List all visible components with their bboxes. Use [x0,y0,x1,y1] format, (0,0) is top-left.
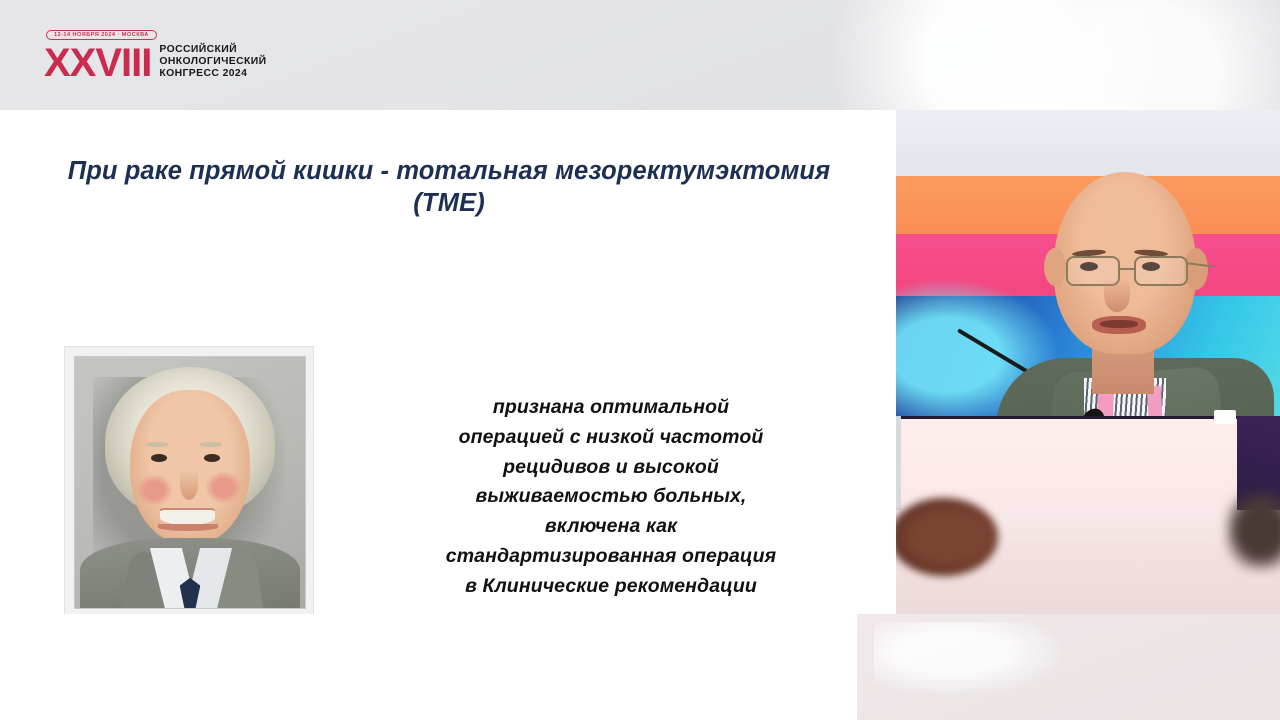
slide-title-line2: (ТМЕ) [413,189,485,217]
presentation-stream: 12-14 НОЯБРЯ 2024 · МОСКВА XXVIII РОССИЙ… [0,0,1280,720]
speaker-video-feed [896,110,1280,614]
slide-title-line1: При раке прямой кишки - тотальная мезоре… [68,157,830,185]
slide-title: При раке прямой кишки - тотальная мезоре… [30,155,868,219]
slide-panel: При раке прямой кишки - тотальная мезоре… [0,110,896,614]
portrait-card: Professor Heald [64,346,314,614]
congress-logo-line2: ОНКОЛОГИЧЕСКИЙ [159,56,266,68]
body-line-2: операцией с низкой частотой [372,423,850,453]
portrait-frame [74,356,306,609]
congress-logo-line1: РОССИЙСКИЙ [159,44,266,56]
body-line-7: в Клинические рекомендации [372,572,850,602]
congress-logo-text: РОССИЙСКИЙ ОНКОЛОГИЧЕСКИЙ КОНГРЕСС 2024 [159,44,266,82]
speaker-caption-bar: ПРОФ. ГЕВОРКЯН ЮРИЙ АРТУШЕВИЧ Ростов-на-… [0,614,857,720]
slide-body-text: признана оптимальной операцией с низкой … [372,393,850,602]
portrait-image-heald [75,357,305,608]
congress-date-badge: 12-14 НОЯБРЯ 2024 · МОСКВА [46,30,157,40]
caption-bar-filler [857,614,1280,720]
body-line-5: включена как [372,512,850,542]
body-line-3: рецидивов и высокой [372,453,850,483]
body-line-4: выживаемостью больных, [372,482,850,512]
congress-logo-roman: XXVIII [44,45,151,82]
body-line-1: признана оптимальной [372,393,850,423]
congress-logo-header: 12-14 НОЯБРЯ 2024 · МОСКВА XXVIII РОССИЙ… [44,44,267,82]
body-line-6: стандартизированная операция [372,542,850,572]
congress-logo-line3: КОНГРЕСС 2024 [159,68,266,80]
